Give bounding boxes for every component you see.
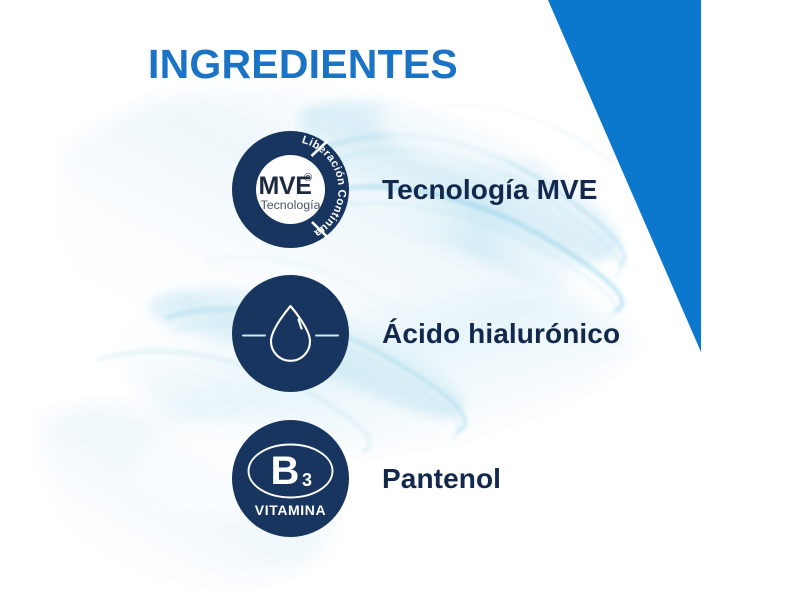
ingredient-row-mve[interactable]: Liberación Continua MVE ® Tecnología Tec… (232, 131, 598, 248)
ingredient-label-hialuronico: Ácido hialurónico (382, 318, 620, 350)
mve-trademark-symbol: ® (304, 172, 312, 184)
ingredients-infographic: INGREDIENTES Liberación Continua (0, 0, 800, 600)
vitamin-letter: B (271, 449, 300, 493)
page-title: INGREDIENTES (148, 44, 458, 85)
water-drop-icon (232, 275, 349, 392)
vitamin-subscript: 3 (302, 470, 312, 490)
mve-subtitle: Tecnología (261, 198, 321, 212)
vitamin-b3-icon: B 3 VITAMINA (232, 420, 349, 537)
ingredient-label-pantenol: Pantenol (382, 463, 501, 495)
mve-ring-logo: Liberación Continua MVE ® Tecnología (232, 131, 349, 248)
ingredient-row-pantenol[interactable]: B 3 VITAMINA Pantenol (232, 420, 501, 537)
vitamin-caption: VITAMINA (255, 502, 326, 518)
ingredient-row-hialuronico[interactable]: Ácido hialurónico (232, 275, 620, 392)
ingredient-label-mve: Tecnología MVE (382, 174, 598, 206)
